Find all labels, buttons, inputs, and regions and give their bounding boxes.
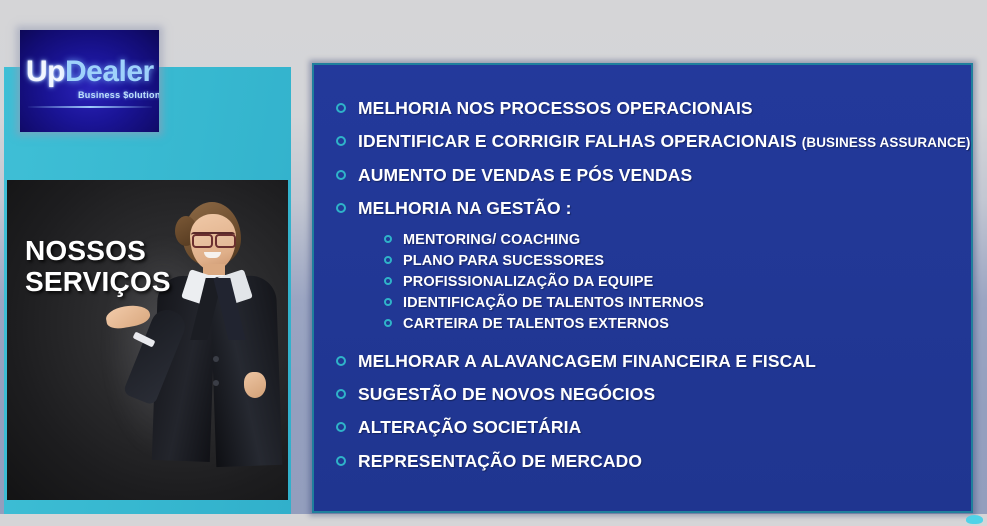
bullet-circle-icon <box>336 456 346 466</box>
logo-underline-rule <box>28 106 152 108</box>
bullet-circle-icon <box>336 103 346 113</box>
service-item-label: MELHORAR A ALAVANCAGEM FINANCEIRA E FISC… <box>358 352 816 370</box>
slide-background-bottom-strip <box>0 514 987 526</box>
service-item-label-suffix: (BUSINESS ASSURANCE) <box>802 135 971 150</box>
bullet-circle-icon <box>384 235 392 243</box>
service-item-label: PROFISSIONALIZAÇÃO DA EQUIPE <box>403 275 653 290</box>
bullet-circle-icon <box>336 389 346 399</box>
service-item[interactable]: MELHORAR A ALAVANCAGEM FINANCEIRA E FISC… <box>336 352 961 370</box>
services-list: MELHORIA NOS PROCESSOS OPERACIONAISIDENT… <box>336 99 961 485</box>
bullet-circle-icon <box>336 422 346 432</box>
company-logo[interactable]: UpDealer Business $olutions <box>20 30 159 132</box>
service-item-label: REPRESENTAÇÃO DE MERCADO <box>358 452 642 470</box>
businesswoman-illustration <box>7 180 288 500</box>
services-photo-panel: NOSSOS SERVIÇOS <box>7 180 288 500</box>
services-title-line-2: SERVIÇOS <box>25 266 185 297</box>
glasses-lens-right <box>215 234 236 248</box>
bullet-circle-icon <box>384 319 392 327</box>
service-item-label: IDENTIFICAÇÃO DE TALENTOS INTERNOS <box>403 296 704 311</box>
service-sub-item[interactable]: MENTORING/ COACHING <box>384 233 961 248</box>
logo-word-up: Up <box>26 55 65 88</box>
jacket-button-lower <box>213 380 219 386</box>
bullet-circle-icon <box>384 298 392 306</box>
service-sub-item[interactable]: IDENTIFICAÇÃO DE TALENTOS INTERNOS <box>384 296 961 311</box>
service-item[interactable]: MELHORIA NOS PROCESSOS OPERACIONAIS <box>336 99 961 117</box>
service-item[interactable]: AUMENTO DE VENDAS E PÓS VENDAS <box>336 166 961 184</box>
service-sub-item[interactable]: CARTEIRA DE TALENTOS EXTERNOS <box>384 317 961 332</box>
bullet-circle-icon <box>336 356 346 366</box>
service-item-label: MENTORING/ COACHING <box>403 233 580 248</box>
services-list-panel: MELHORIA NOS PROCESSOS OPERACIONAISIDENT… <box>312 63 973 513</box>
service-sub-item[interactable]: PROFISSIONALIZAÇÃO DA EQUIPE <box>384 275 961 290</box>
service-item[interactable]: IDENTIFICAR E CORRIGIR FALHAS OPERACIONA… <box>336 132 961 150</box>
glasses-icon <box>191 232 235 245</box>
corner-accent-dot <box>966 515 983 524</box>
services-title-line-1: NOSSOS <box>25 235 185 266</box>
bullet-circle-icon <box>336 203 346 213</box>
service-item-label: CARTEIRA DE TALENTOS EXTERNOS <box>403 317 669 332</box>
glasses-lens-left <box>192 234 213 248</box>
service-item-label: ALTERAÇÃO SOCIETÁRIA <box>358 418 581 436</box>
services-title: NOSSOS SERVIÇOS <box>25 235 185 298</box>
logo-tagline: Business $olutions <box>78 90 159 100</box>
service-item-label: AUMENTO DE VENDAS E PÓS VENDAS <box>358 166 692 184</box>
bullet-circle-icon <box>384 277 392 285</box>
service-item-label: MELHORIA NOS PROCESSOS OPERACIONAIS <box>358 99 753 117</box>
holding-hand-shape <box>244 372 266 398</box>
service-item[interactable]: REPRESENTAÇÃO DE MERCADO <box>336 452 961 470</box>
service-item[interactable]: SUGESTÃO DE NOVOS NEGÓCIOS <box>336 385 961 403</box>
service-item-label: MELHORIA NA GESTÃO : <box>358 199 572 217</box>
bullet-circle-icon <box>336 136 346 146</box>
service-item-label: IDENTIFICAR E CORRIGIR FALHAS OPERACIONA… <box>358 132 971 150</box>
bullet-circle-icon <box>336 170 346 180</box>
jacket-button-upper <box>213 356 219 362</box>
slide-canvas: UpDealer Business $olutions <box>0 0 987 526</box>
bullet-circle-icon <box>384 256 392 264</box>
logo-word-dealer: Dealer <box>65 55 154 88</box>
service-sub-item[interactable]: PLANO PARA SUCESSORES <box>384 254 961 269</box>
service-item-label: SUGESTÃO DE NOVOS NEGÓCIOS <box>358 385 655 403</box>
service-item[interactable]: ALTERAÇÃO SOCIETÁRIA <box>336 418 961 436</box>
service-item-label: PLANO PARA SUCESSORES <box>403 254 604 269</box>
logo-wordmark: UpDealer <box>26 57 158 87</box>
service-item[interactable]: MELHORIA NA GESTÃO : <box>336 199 961 217</box>
